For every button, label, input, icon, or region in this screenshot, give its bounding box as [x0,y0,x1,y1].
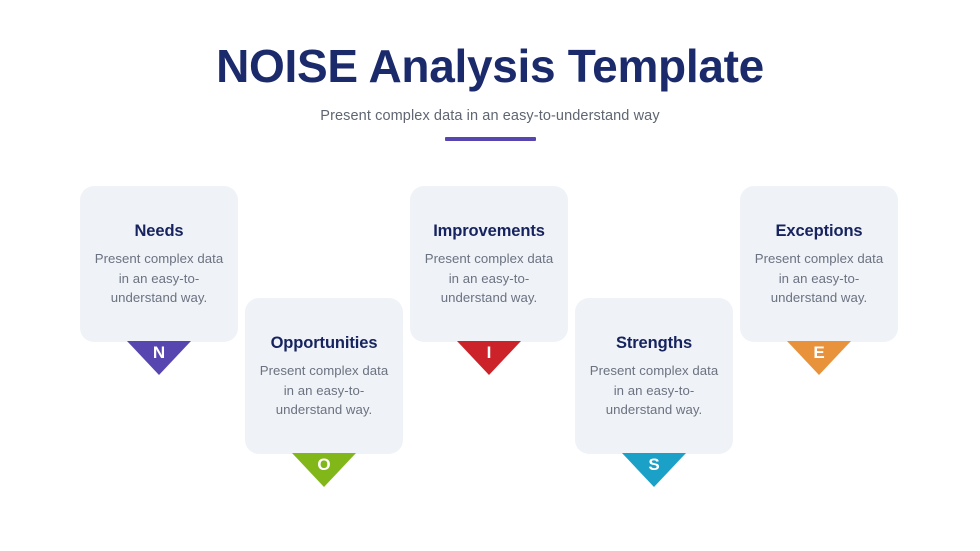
pointer-opportunities: O [292,453,356,487]
card-title: Exceptions [775,222,862,242]
card-body: Present complex data in an easy-to-under… [422,249,556,308]
noise-item-exceptions[interactable]: Exceptions Present complex data in an ea… [740,186,898,342]
card-strengths[interactable]: Strengths Present complex data in an eas… [575,298,733,454]
card-improvements[interactable]: Improvements Present complex data in an … [410,186,568,342]
card-body: Present complex data in an easy-to-under… [587,361,721,420]
card-title: Opportunities [271,334,378,354]
card-exceptions[interactable]: Exceptions Present complex data in an ea… [740,186,898,342]
card-letter: N [127,340,191,366]
card-body: Present complex data in an easy-to-under… [752,249,886,308]
pointer-exceptions: E [787,341,851,375]
card-needs[interactable]: Needs Present complex data in an easy-to… [80,186,238,342]
card-letter: S [622,452,686,478]
card-letter: I [457,340,521,366]
noise-item-needs[interactable]: Needs Present complex data in an easy-to… [80,186,238,342]
card-opportunities[interactable]: Opportunities Present complex data in an… [245,298,403,454]
noise-card-deck: Needs Present complex data in an easy-to… [0,0,980,551]
card-letter: O [292,452,356,478]
card-body: Present complex data in an easy-to-under… [257,361,391,420]
card-body: Present complex data in an easy-to-under… [92,249,226,308]
pointer-needs: N [127,341,191,375]
card-title: Needs [134,222,183,242]
noise-item-opportunities[interactable]: Opportunities Present complex data in an… [245,298,403,454]
noise-item-improvements[interactable]: Improvements Present complex data in an … [410,186,568,342]
card-title: Strengths [616,334,692,354]
noise-item-strengths[interactable]: Strengths Present complex data in an eas… [575,298,733,454]
pointer-strengths: S [622,453,686,487]
card-letter: E [787,340,851,366]
card-title: Improvements [433,222,545,242]
pointer-improvements: I [457,341,521,375]
